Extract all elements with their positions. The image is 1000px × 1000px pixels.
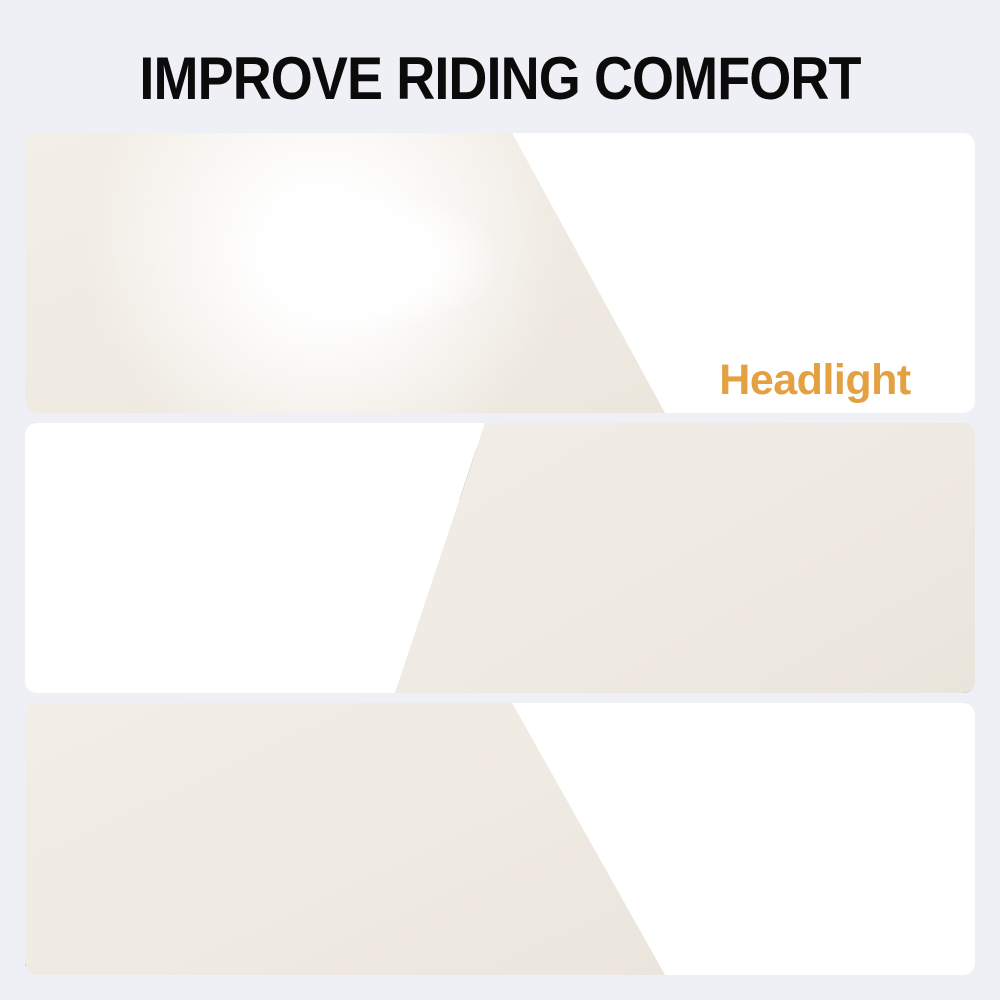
headlight-beam-glow bbox=[315, 161, 675, 361]
headlight-text-block: Headlight Brighter, Farther and Clearer bbox=[625, 357, 975, 413]
page-title: IMPROVE RIDING COMFORT bbox=[50, 44, 950, 113]
seat-photo bbox=[25, 703, 665, 975]
headlight-kicker: Headlight bbox=[625, 357, 975, 403]
taillight-photo bbox=[385, 423, 975, 693]
infographic-page: IMPROVE RIDING COMFORT bbox=[0, 0, 1000, 1000]
feature-card-headlight: Headlight Brighter, Farther and Clearer bbox=[25, 133, 975, 413]
feature-card-taillight: Taillight Stronger recognition bbox=[25, 423, 975, 693]
feature-card-seat: Seat Comfortable and height-adjustable bbox=[25, 703, 975, 975]
seat-photo-backdrop bbox=[25, 703, 665, 975]
headlight-subtitle-line-1: Brighter, Farther and Clearer bbox=[625, 409, 975, 413]
taillight-photo-backdrop bbox=[385, 423, 975, 693]
headlight-photo bbox=[25, 133, 665, 413]
